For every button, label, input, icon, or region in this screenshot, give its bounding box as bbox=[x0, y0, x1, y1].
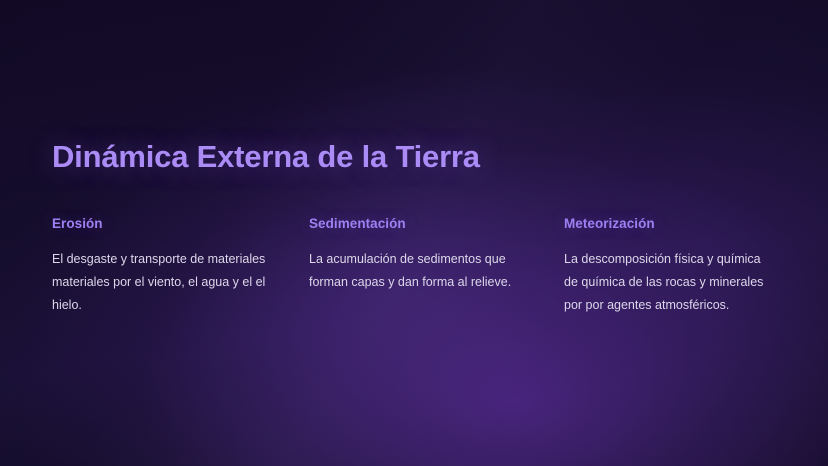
slide-title: Dinámica Externa de la Tierra bbox=[52, 140, 480, 175]
columns-container: Erosión El desgaste y transporte de mate… bbox=[52, 216, 776, 317]
column-body-erosion: El desgaste y transporte de materiales m… bbox=[52, 248, 270, 317]
column-body-sedimentacion: La acumulación de sedimentos que forman … bbox=[309, 248, 527, 294]
column-erosion: Erosión El desgaste y transporte de mate… bbox=[52, 216, 309, 317]
slide-canvas: Dinámica Externa de la Tierra Erosión El… bbox=[0, 0, 828, 466]
column-heading-sedimentacion: Sedimentación bbox=[309, 216, 564, 231]
column-heading-meteorizacion: Meteorización bbox=[564, 216, 776, 231]
column-sedimentacion: Sedimentación La acumulación de sediment… bbox=[309, 216, 564, 317]
column-body-meteorizacion: La descomposición física y química de qu… bbox=[564, 248, 776, 317]
column-heading-erosion: Erosión bbox=[52, 216, 309, 231]
column-meteorizacion: Meteorización La descomposición física y… bbox=[564, 216, 776, 317]
